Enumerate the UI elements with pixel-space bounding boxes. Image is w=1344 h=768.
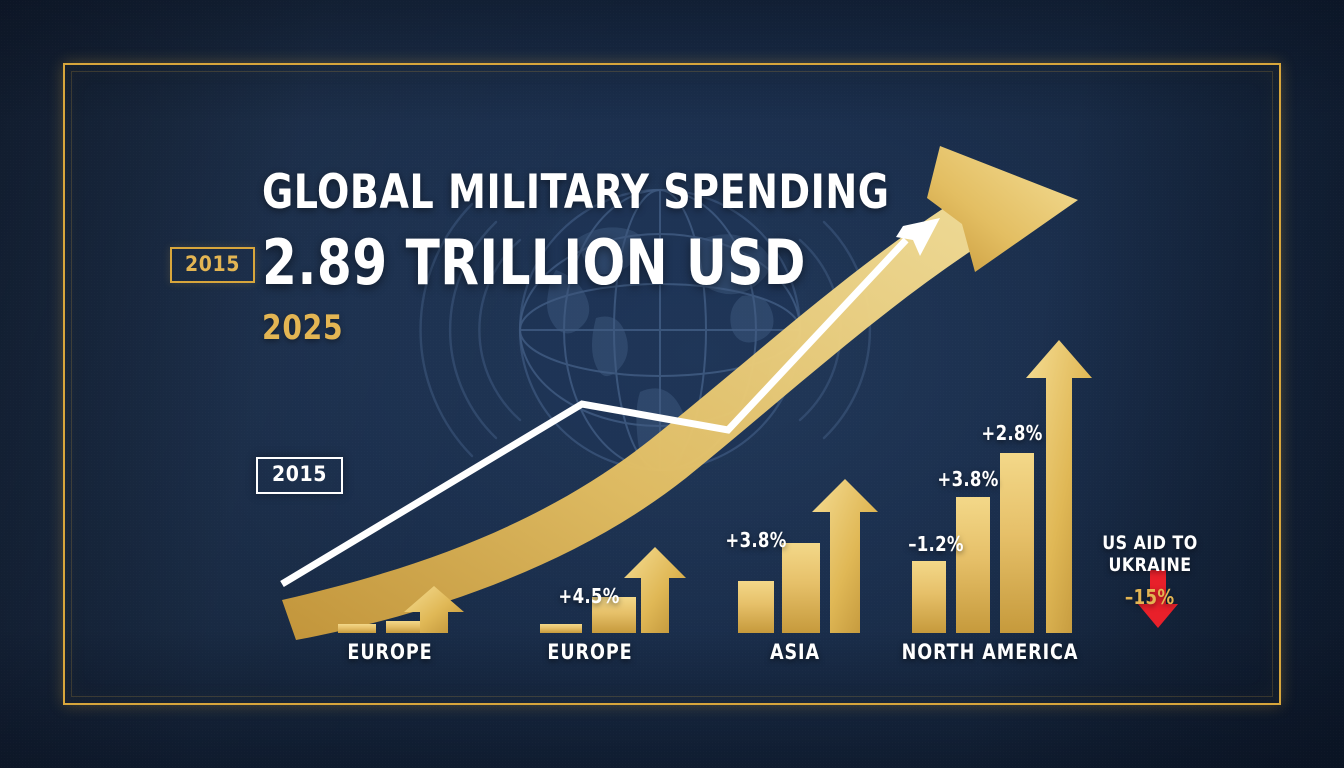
callout-line-1: US AID TO [1094, 533, 1206, 555]
callout-percentage: –15% [1125, 587, 1175, 607]
headline-value: 2.89 TRILLION USD [262, 230, 820, 295]
bar-label-asia: ASIA [770, 640, 820, 664]
chart-year-marker-2015: 2015 [256, 457, 343, 494]
headline-block: GLOBAL MILITARY SPENDING 2.89 TRILLION U… [262, 168, 882, 345]
bar-label-europe-1: EUROPE [347, 640, 432, 664]
pct-label-na-2: +3.8% [937, 467, 998, 491]
callout-line-2: UKRAINE [1094, 555, 1206, 577]
chart-artwork [0, 0, 1344, 768]
up-arrow-icon [812, 479, 878, 633]
bar-label-north-america: NORTH AMERICA [902, 640, 1079, 664]
infographic-canvas: 2015 GLOBAL MILITARY SPENDING 2.89 TRILL… [0, 0, 1344, 768]
pct-label-na-1: –1.2% [908, 532, 964, 556]
pct-label-na-3: +2.8% [981, 421, 1042, 445]
pct-label-asia: +3.8% [725, 528, 786, 552]
bar-group-asia [738, 479, 878, 633]
year-badge-2015: 2015 [170, 247, 255, 283]
headline-year: 2025 [262, 311, 832, 345]
bar-label-europe-2: EUROPE [547, 640, 632, 664]
page-title: GLOBAL MILITARY SPENDING [262, 168, 820, 218]
up-arrow-icon [1026, 340, 1092, 633]
us-aid-ukraine-callout: US AID TO UKRAINE –15% [1090, 533, 1210, 609]
pct-label-europe-2: +4.5% [558, 584, 619, 608]
